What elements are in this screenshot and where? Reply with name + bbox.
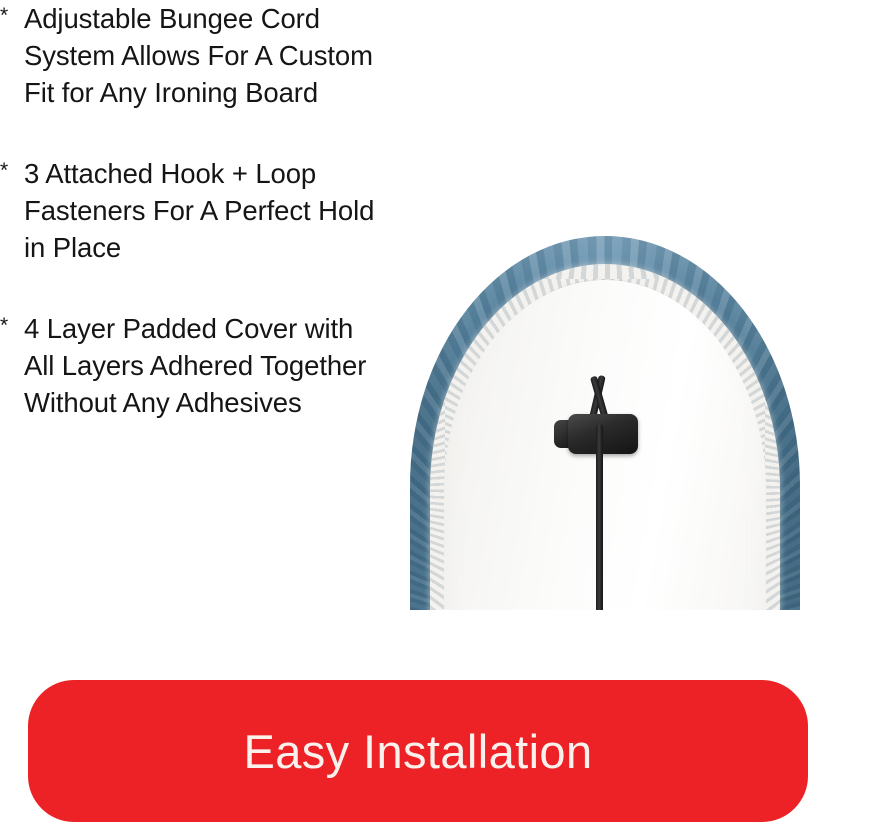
product-photo	[408, 228, 808, 610]
easy-installation-label: Easy Installation	[243, 728, 592, 775]
feature-item-padded-cover-layers: * 4 Layer Padded Cover with All Layers A…	[0, 310, 455, 421]
product-photo-scene	[408, 228, 808, 610]
easy-installation-banner[interactable]: Easy Installation	[28, 680, 808, 822]
feature-text: 4 Layer Padded Cover with All Layers Adh…	[24, 310, 455, 421]
product-feature-card: * Adjustable Bungee Cord System Allows F…	[0, 0, 888, 840]
feature-list: * Adjustable Bungee Cord System Allows F…	[0, 0, 455, 421]
feature-text: 3 Attached Hook + Loop Fasteners For A P…	[24, 155, 455, 266]
feature-text: Adjustable Bungee Cord System Allows For…	[24, 0, 455, 111]
bullet-asterisk-icon: *	[0, 158, 16, 184]
feature-item-hook-loop-fasteners: * 3 Attached Hook + Loop Fasteners For A…	[0, 155, 455, 266]
bullet-asterisk-icon: *	[0, 3, 16, 29]
black-bungee-cord	[596, 424, 603, 610]
black-cord-lock-clip	[568, 414, 638, 454]
feature-item-bungee-cord-system: * Adjustable Bungee Cord System Allows F…	[0, 0, 455, 111]
bullet-asterisk-icon: *	[0, 313, 16, 339]
